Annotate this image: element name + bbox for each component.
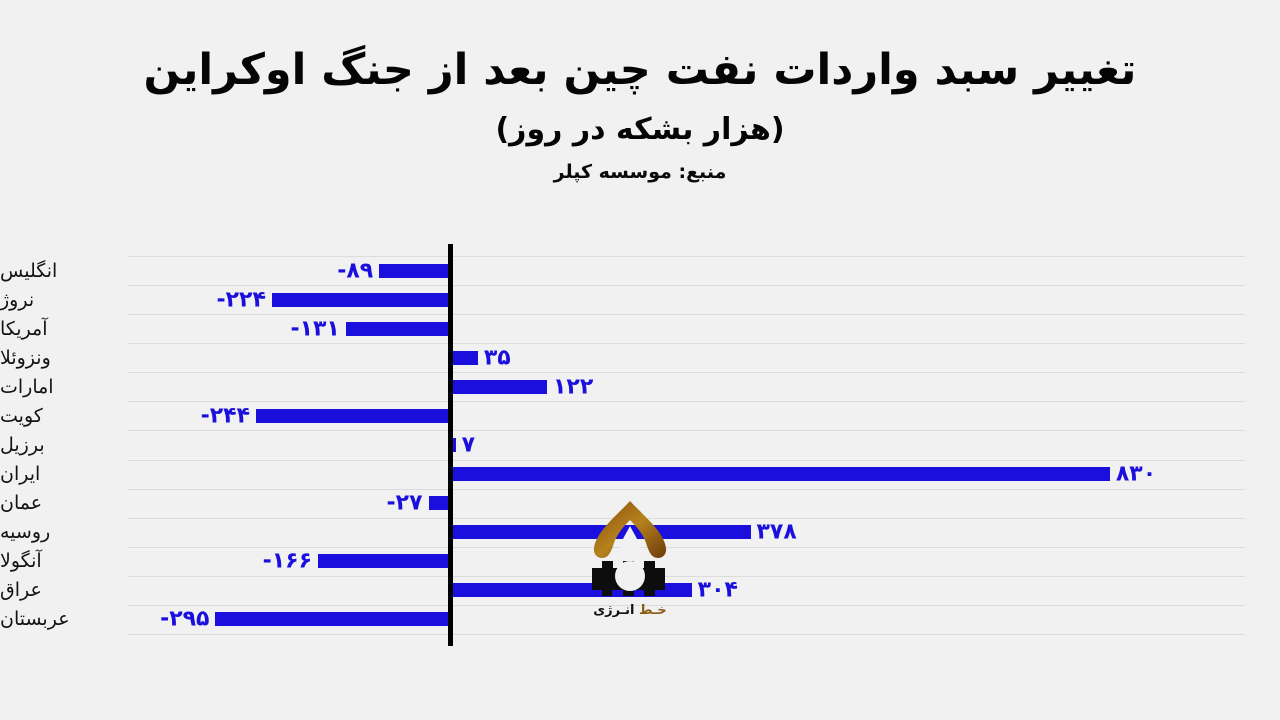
- bar: [215, 612, 450, 626]
- bar-value-label: -۲۹۵: [160, 607, 209, 632]
- category-label: روسیه: [0, 521, 112, 543]
- gridline: [128, 256, 1245, 257]
- bar: [346, 322, 450, 336]
- chart-plot-wrapper: انگلیسنروژآمریکاونزوئلااماراتکویتبرزیلای…: [0, 244, 1280, 646]
- gridline: [128, 430, 1245, 431]
- bar-value-label: ۳۵: [484, 345, 511, 370]
- khat-energy-logo: خـط انـرژی: [560, 496, 700, 618]
- category-label: آنگولا: [0, 550, 112, 572]
- chart-subtitle: (هزار بشکه در روز): [0, 98, 1280, 147]
- bar-value-label: -۲۷: [387, 491, 423, 516]
- bar-value-label: ۱۲۲: [553, 374, 593, 399]
- bar-value-label: -۲۲۴: [217, 287, 266, 312]
- bar-value-label: -۱۳۱: [290, 316, 339, 341]
- page-title: تغییر سبد واردات نفت چین بعد از جنگ اوکر…: [0, 0, 1280, 98]
- category-label: عمان: [0, 492, 112, 514]
- gridline: [128, 634, 1245, 635]
- gridline: [128, 343, 1245, 344]
- gridline: [128, 460, 1245, 461]
- category-label: نروژ: [0, 289, 112, 311]
- zero-axis-line: [448, 244, 453, 646]
- chart-source-label: منبع: موسسه کپلر: [0, 147, 1280, 183]
- bar: [450, 380, 547, 394]
- category-label: امارات: [0, 376, 112, 398]
- category-axis: انگلیسنروژآمریکاونزوئلااماراتکویتبرزیلای…: [0, 244, 120, 646]
- category-label: انگلیس: [0, 260, 112, 282]
- bar-value-label: ۳۷۸: [757, 520, 797, 545]
- gridline: [128, 489, 1245, 490]
- logo-caption-part-a: خـط: [639, 603, 667, 618]
- bar: [450, 467, 1110, 481]
- gridline: [128, 285, 1245, 286]
- category-label: برزیل: [0, 434, 112, 456]
- gridline: [128, 314, 1245, 315]
- logo-mark-icon: [560, 496, 700, 596]
- bar-value-label: -۱۶۶: [263, 549, 312, 574]
- bar-value-label: -۲۴۴: [201, 403, 250, 428]
- bar-value-label: ۸۳۰: [1116, 462, 1156, 487]
- logo-caption-part-b: انـرژی: [593, 603, 634, 618]
- bar-value-label: ۳۰۴: [698, 578, 738, 603]
- logo-caption: خـط انـرژی: [560, 603, 700, 618]
- bar: [450, 351, 478, 365]
- gridline: [128, 372, 1245, 373]
- category-label: ایران: [0, 463, 112, 485]
- chart-header: تغییر سبد واردات نفت چین بعد از جنگ اوکر…: [0, 0, 1280, 183]
- category-label: ونزوئلا: [0, 347, 112, 369]
- category-label: کویت: [0, 405, 112, 427]
- bar: [429, 496, 450, 510]
- category-label: آمریکا: [0, 318, 112, 340]
- bar: [256, 409, 450, 423]
- gridline: [128, 401, 1245, 402]
- bar-value-label: ۷: [462, 433, 475, 458]
- bar: [272, 293, 450, 307]
- category-label: عربستان: [0, 608, 112, 630]
- category-label: عراق: [0, 579, 112, 601]
- bar: [379, 264, 450, 278]
- bar: [318, 554, 450, 568]
- bar-value-label: -۸۹: [337, 258, 373, 283]
